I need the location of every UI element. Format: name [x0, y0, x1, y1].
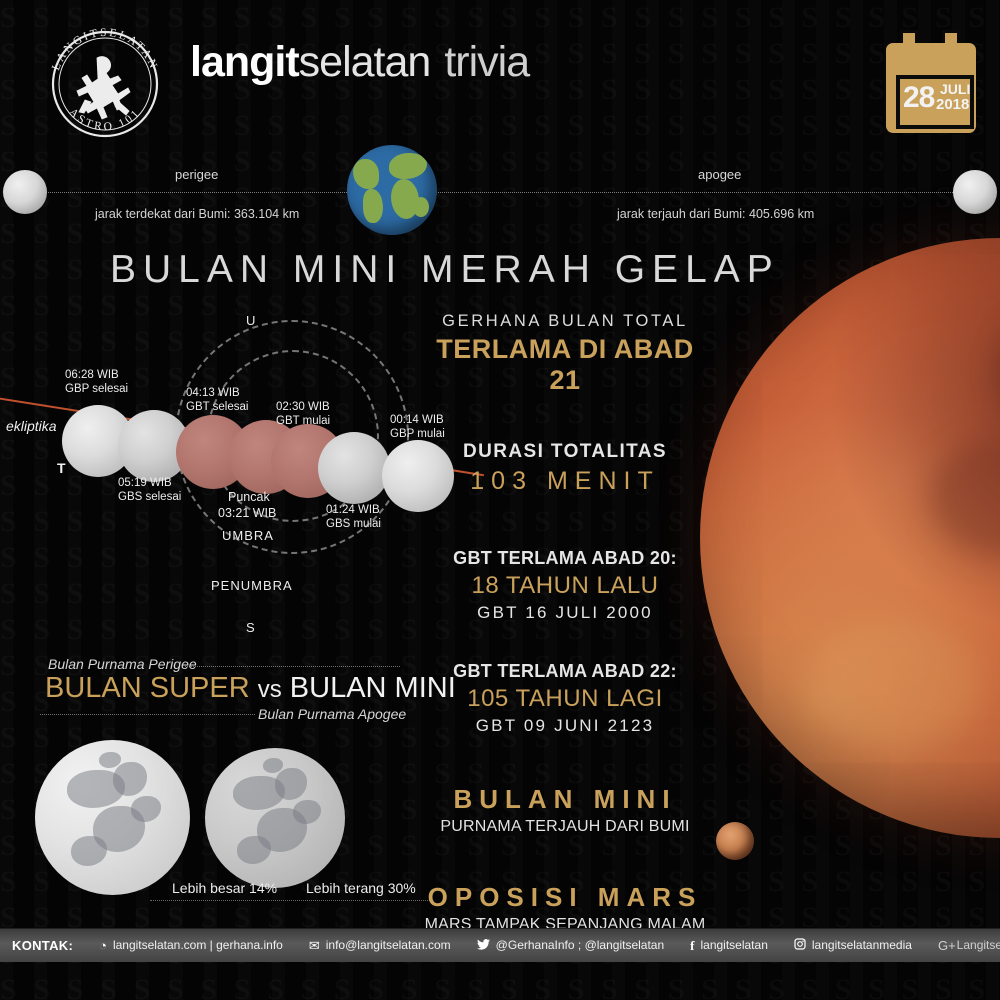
super-vs-mini-section: Bulan Purnama Perigee BULAN SUPER vs BUL… — [10, 650, 430, 940]
century22-block: GBT TERLAMA ABAD 22: 105 TAHUN LAGI GBT … — [420, 661, 710, 736]
langitselatan-logo[interactable]: LANGITSELATAN ASTRO 101 — [35, 22, 175, 142]
brand-part-trivia: trivia — [444, 38, 529, 86]
phase-1-time: 06:28 WIB — [65, 368, 119, 382]
mars-planet-icon — [716, 822, 754, 860]
perigee-detail: jarak terdekat dari Bumi: 363.104 km — [95, 207, 299, 221]
caption-brightness: Lebih terang 30% — [306, 880, 416, 896]
svm-title: BULAN SUPER vs BULAN MINI — [45, 672, 456, 705]
brand-part-selatan: selatan — [299, 38, 431, 86]
eclipse-kicker: GERHANA BULAN TOTAL — [420, 312, 710, 331]
penumbra-label: PENUMBRA — [211, 578, 293, 593]
eclipse-moon-6 — [318, 432, 390, 504]
phase-3-time: 04:13 WIB — [186, 386, 240, 400]
kontak-label: KONTAK: — [0, 938, 73, 953]
footer-item-email[interactable]: ✉ info@langitselatan.com — [309, 938, 451, 952]
phase-5-event: GBS mulai — [326, 517, 381, 531]
footer-item-website[interactable]: ◔ langitselatan.com | gerhana.info — [99, 938, 283, 952]
apogee-label: apogee — [698, 167, 741, 182]
caption-size: Lebih besar 14% — [172, 880, 277, 896]
calendar-date-panel: 28 JULI 2018 — [896, 75, 974, 129]
svm-title-gold: BULAN SUPER — [45, 672, 250, 704]
peak-time: 03:21 WIB — [218, 506, 276, 520]
perigee-moon-icon — [3, 170, 47, 214]
facebook-icon: f — [690, 939, 694, 952]
footer-facebook-text: langitselatan — [700, 938, 767, 952]
brand-part-langit: langit — [190, 38, 299, 86]
calendar-year: 2018 — [936, 97, 969, 113]
eclipse-headline-block: GERHANA BULAN TOTAL TERLAMA DI ABAD 21 — [420, 312, 710, 396]
peak-label: Puncak — [228, 490, 270, 504]
super-moon-illustration — [35, 740, 190, 895]
mini-moon-title: BULAN MINI — [420, 784, 710, 815]
footer-item-twitter[interactable]: @GerhanaInfo ; @langitselatan — [477, 938, 664, 952]
calendar-icon: 28 JULI 2018 — [886, 30, 976, 133]
mini-moon-caption: PURNAMA TERJAUH DARI BUMI — [420, 818, 710, 836]
century22-label: GBT TERLAMA ABAD 22: — [420, 661, 710, 682]
apogee-fullmoon-label: Bulan Purnama Apogee — [258, 706, 406, 722]
century20-block: GBT TERLAMA ABAD 20: 18 TAHUN LALU GBT 1… — [420, 548, 710, 623]
phase-4-time: 02:30 WIB — [276, 400, 330, 414]
perigee-fullmoon-label: Bulan Purnama Perigee — [48, 656, 197, 672]
footer-contact-bar: KONTAK: ◔ langitselatan.com | gerhana.in… — [0, 928, 1000, 962]
phase-5-time: 01:24 WIB — [326, 503, 380, 517]
footer-item-instagram[interactable]: langitselatanmedia — [794, 938, 912, 952]
calendar-day: 28 — [903, 83, 934, 113]
century20-label: GBT TERLAMA ABAD 20: — [420, 548, 710, 569]
main-headline: BULAN MINI MERAH GELAP — [110, 248, 780, 292]
direction-west-label: T — [57, 460, 66, 476]
century20-detail: GBT 16 JULI 2000 — [420, 603, 710, 623]
century22-detail: GBT 09 JUNI 2123 — [420, 716, 710, 736]
eclipse-sequence-diagram: U S T B ekliptika 06:28 WIB GBP selesai … — [0, 300, 470, 660]
umbra-label: UMBRA — [222, 528, 274, 543]
footer-googleplus-text: LangitselatanMedia — [957, 938, 1000, 952]
mars-block: OPOSISI MARS MARS TAMPAK SEPANJANG MALAM — [420, 882, 710, 934]
direction-south-label: S — [246, 620, 256, 635]
infographic-canvas: SSSSSSSSSSSSSSSSSSSSSSSSSSSSSSSSSSSSSSSS… — [0, 0, 1000, 1000]
century22-value: 105 TAHUN LAGI — [420, 685, 710, 713]
phase-3-event: GBT selesai — [186, 400, 248, 414]
earth-globe-icon — [347, 145, 437, 235]
mars-title: OPOSISI MARS — [420, 882, 710, 913]
calendar-body: 28 JULI 2018 — [886, 43, 976, 133]
mini-moon-block: BULAN MINI PURNAMA TERJAUH DARI BUMI — [420, 784, 710, 836]
perigee-label: perigee — [175, 167, 218, 182]
footer-website-text: langitselatan.com | gerhana.info — [113, 938, 283, 952]
svm-footer-divider — [150, 900, 430, 901]
googleplus-icon: G+ — [938, 939, 956, 952]
header: LANGITSELATAN ASTRO 101 langitselatantri… — [0, 0, 1000, 150]
centaur-seal-icon: LANGITSELATAN ASTRO 101 — [35, 22, 175, 142]
orbit-dotted-line — [5, 192, 995, 193]
apogee-moon-icon — [953, 170, 997, 214]
duration-value: 103 MENIT — [420, 467, 710, 496]
mini-moon-illustration — [205, 748, 345, 888]
footer-item-googleplus[interactable]: G+ LangitselatanMedia — [938, 938, 1000, 952]
phase-4-event: GBT mulai — [276, 414, 330, 428]
page-title: langitselatantrivia — [190, 38, 529, 87]
ecliptic-label: ekliptika — [6, 418, 57, 434]
phase-2-time: 05:19 WIB — [118, 476, 172, 490]
info-column: GERHANA BULAN TOTAL TERLAMA DI ABAD 21 D… — [420, 312, 710, 934]
svm-top-divider — [185, 666, 400, 667]
svm-title-vs: vs — [258, 676, 282, 703]
century20-value: 18 TAHUN LALU — [420, 572, 710, 600]
footer-instagram-text: langitselatanmedia — [812, 938, 912, 952]
footer-twitter-text: @GerhanaInfo ; @langitselatan — [496, 938, 664, 952]
envelope-icon: ✉ — [309, 939, 320, 952]
instagram-icon — [794, 938, 806, 952]
twitter-icon — [477, 939, 490, 952]
phase-1-event: GBP selesai — [65, 382, 128, 396]
eclipse-headline: TERLAMA DI ABAD 21 — [420, 334, 710, 396]
calendar-month: JULI — [940, 82, 970, 97]
svm-bottom-divider — [40, 714, 255, 715]
direction-north-label: U — [246, 313, 256, 328]
footer-item-facebook[interactable]: f langitselatan — [690, 938, 768, 952]
duration-label: DURASI TOTALITAS — [420, 441, 710, 463]
duration-block: DURASI TOTALITAS 103 MENIT — [420, 441, 710, 496]
perigee-apogee-band: perigee jarak terdekat dari Bumi: 363.10… — [0, 150, 1000, 240]
rss-icon: ◔ — [99, 939, 107, 952]
footer-email-text: info@langitselatan.com — [326, 938, 451, 952]
apogee-detail: jarak terjauh dari Bumi: 405.696 km — [617, 207, 814, 221]
phase-2-event: GBS selesai — [118, 490, 181, 504]
footer-top-rule — [0, 928, 1000, 929]
